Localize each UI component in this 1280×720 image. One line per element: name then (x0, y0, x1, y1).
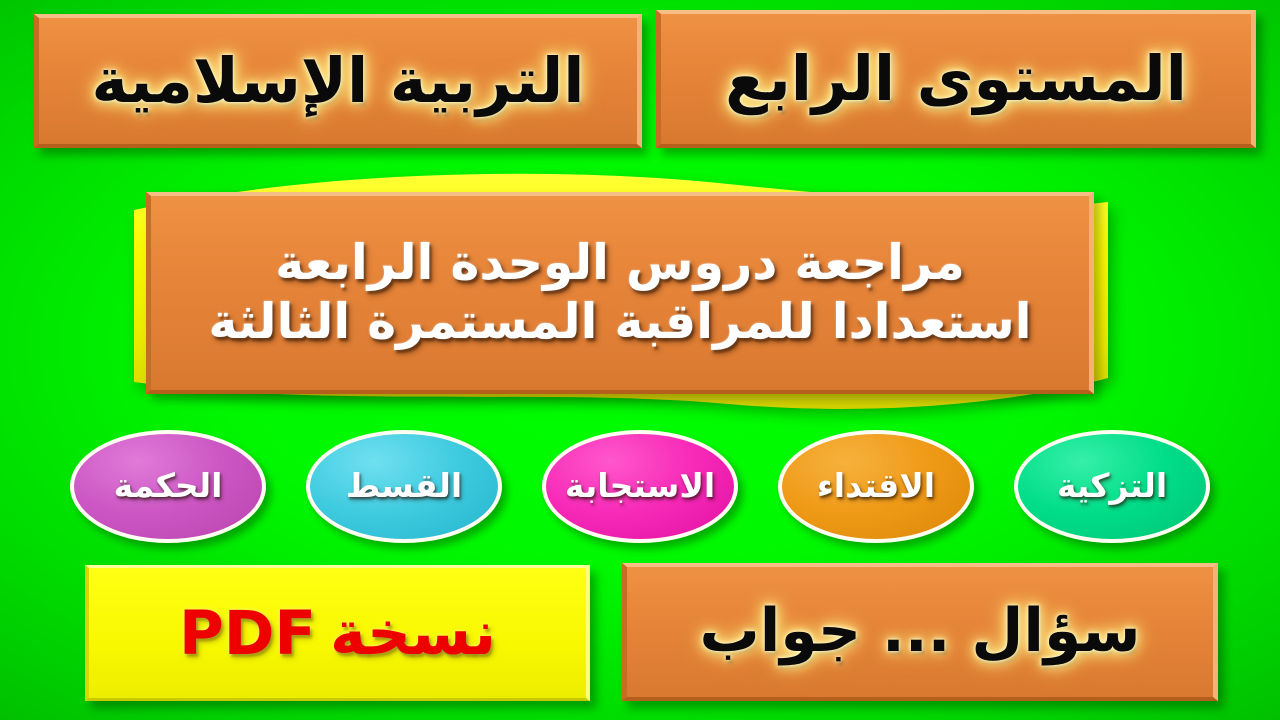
subject-title-box: التربية الإسلامية (34, 14, 642, 148)
topic-oval-al-qist[interactable]: القسط (306, 430, 502, 543)
topic-label-at-tazkiya: التزكية (1057, 468, 1167, 505)
banner-line-2: استعدادا للمراقبة المستمرة الثالثة (208, 295, 1031, 350)
pdf-copy-arabic-text: نسخة (330, 598, 496, 669)
pdf-copy-line: نسخةPDF (179, 598, 496, 669)
topic-oval-at-tazkiya[interactable]: التزكية (1014, 430, 1210, 543)
topic-label-al-istijaba: الاستجابة (565, 468, 715, 505)
slide-canvas: التربية الإسلامية المستوى الرابع مراجعة … (0, 0, 1280, 720)
topic-oval-al-iqtida[interactable]: الاقتداء (778, 430, 974, 543)
banner-text-box: مراجعة دروس الوحدة الرابعة استعدادا للمر… (146, 192, 1094, 394)
question-answer-text: سؤال ... جواب (699, 598, 1140, 665)
pdf-copy-box[interactable]: نسخةPDF (85, 565, 590, 701)
topic-label-al-qist: القسط (346, 468, 462, 505)
topic-label-al-iqtida: الاقتداء (817, 468, 935, 505)
topic-oval-row: الحكمة القسط الاستجابة الاقتداء التزكية (0, 424, 1280, 548)
level-title-box: المستوى الرابع (656, 10, 1256, 148)
main-banner: مراجعة دروس الوحدة الرابعة استعدادا للمر… (128, 172, 1112, 422)
topic-oval-al-istijaba[interactable]: الاستجابة (542, 430, 738, 543)
topic-oval-al-hikma[interactable]: الحكمة (70, 430, 266, 543)
level-title-text: المستوى الرابع (725, 44, 1187, 113)
question-answer-box: سؤال ... جواب (622, 563, 1218, 701)
topic-label-al-hikma: الحكمة (114, 468, 223, 505)
pdf-copy-latin-text: PDF (179, 598, 316, 669)
banner-line-1: مراجعة دروس الوحدة الرابعة (275, 236, 965, 291)
subject-title-text: التربية الإسلامية (92, 46, 585, 115)
